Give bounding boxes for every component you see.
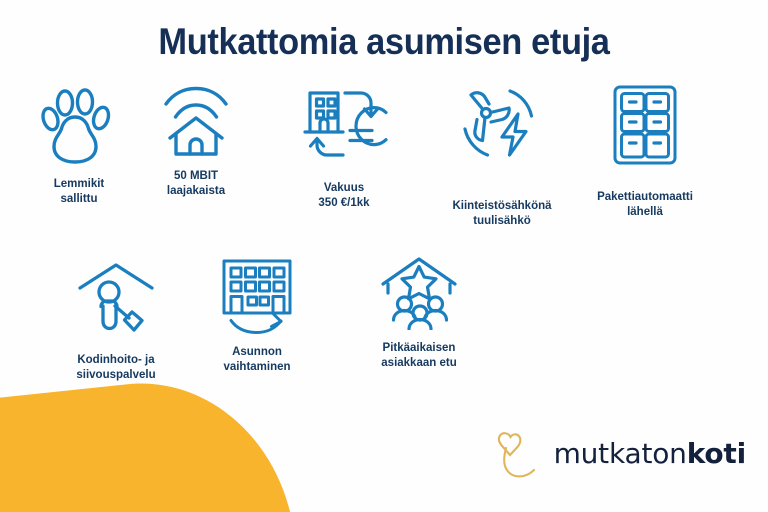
apartment-building-arrow-icon (216, 258, 298, 334)
benefit-item-cleaning-service: Kodinhoito- ja siivouspalvelu (46, 262, 186, 382)
benefit-item-wind-electricity: Kiinteistösähkönä tuulisähkö (428, 84, 576, 228)
logo-text-bold: koti (687, 437, 746, 470)
benefit-item-parcel-locker: Pakettiautomaatti lähellä (570, 84, 720, 219)
benefit-label: Pitkäaikaisen asiakkaan etu (381, 341, 456, 370)
parcel-locker-icon (611, 84, 679, 166)
building-euro-cycle-icon (298, 84, 390, 164)
decorative-orange-blob (0, 369, 301, 512)
benefit-label: Pakettiautomaatti lähellä (597, 190, 693, 219)
brand-logo[interactable]: mutkatonkoti (492, 426, 746, 480)
logo-text-regular: mutkaton (554, 437, 687, 470)
logo-wordmark: mutkatonkoti (554, 437, 746, 470)
cleaning-person-roof-icon (76, 262, 156, 336)
family-star-roof-icon (379, 256, 459, 330)
paw-print-icon (41, 86, 117, 166)
wind-turbine-lightning-icon (458, 84, 546, 166)
benefit-label: Kodinhoito- ja siivouspalvelu (76, 353, 155, 382)
benefit-item-pets: Lemmikit sallittu (14, 86, 144, 206)
benefit-item-loyalty: Pitkäaikaisen asiakkaan etu (350, 256, 488, 370)
benefit-item-deposit: Vakuus 350 €/1kk (282, 84, 406, 210)
benefit-label: Asunnon vaihtaminen (223, 345, 290, 374)
infographic-poster: Mutkattomia asumisen etuja Lemmikit sall… (0, 0, 768, 512)
benefit-label: Vakuus 350 €/1kk (318, 181, 369, 210)
benefit-item-apartment-swap: Asunnon vaihtaminen (196, 258, 318, 374)
heart-swoosh-icon (492, 426, 550, 480)
benefit-label: Lemmikit sallittu (54, 177, 105, 206)
page-title: Mutkattomia asumisen etuja (27, 20, 741, 64)
benefit-item-broadband: 50 MBIT laajakaista (132, 84, 260, 198)
wifi-house-icon (160, 84, 232, 158)
benefit-label: Kiinteistösähkönä tuulisähkö (452, 199, 551, 228)
benefit-label: 50 MBIT laajakaista (167, 169, 225, 198)
